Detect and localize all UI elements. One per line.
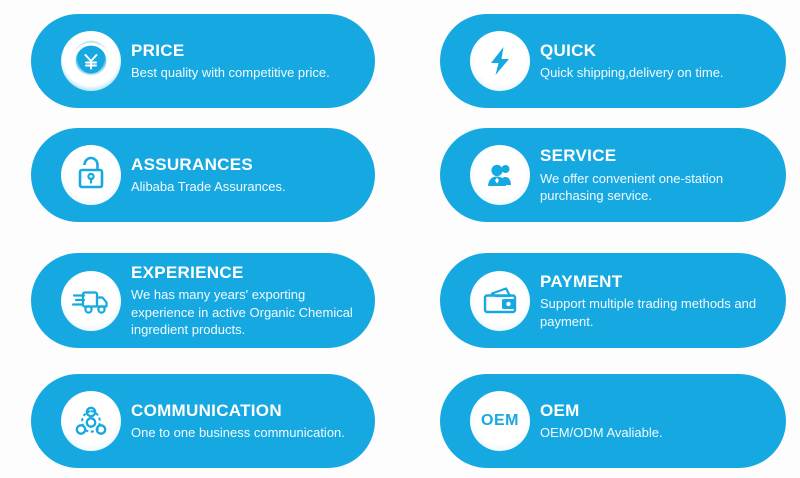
feature-card-quick[interactable]: QUICK Quick shipping,delivery on time.	[440, 14, 786, 108]
feature-card-service[interactable]: SERVICE We offer convenient one-station …	[440, 128, 786, 222]
card-text-quick: QUICK Quick shipping,delivery on time.	[540, 40, 786, 82]
card-text-payment: PAYMENT Support multiple trading methods…	[540, 271, 786, 330]
card-description: We has many years' exporting experience …	[131, 286, 359, 339]
network-nodes-icon	[61, 391, 121, 451]
card-text-experience: EXPERIENCE We has many years' exporting …	[131, 262, 375, 339]
card-description: Quick shipping,delivery on time.	[540, 64, 770, 82]
feature-card-communication[interactable]: COMMUNICATION One to one business commun…	[31, 374, 375, 468]
card-text-assurances: ASSURANCES Alibaba Trade Assurances.	[131, 154, 375, 196]
card-description: Best quality with competitive price.	[131, 64, 359, 82]
card-description: One to one business communication.	[131, 424, 359, 442]
feature-card-experience[interactable]: EXPERIENCE We has many years' exporting …	[31, 253, 375, 348]
oem-text-icon: OEM	[470, 391, 530, 451]
feature-card-oem[interactable]: OEM OEM OEM/ODM Avaliable.	[440, 374, 786, 468]
wallet-card-icon	[470, 271, 530, 331]
card-description: We offer convenient one-station purchasi…	[540, 170, 770, 205]
card-title: ASSURANCES	[131, 154, 359, 175]
feature-card-assurances[interactable]: ASSURANCES Alibaba Trade Assurances.	[31, 128, 375, 222]
card-text-price: PRICE Best quality with competitive pric…	[131, 40, 375, 82]
features-board: PRICE Best quality with competitive pric…	[0, 0, 800, 478]
card-title: QUICK	[540, 40, 770, 61]
card-title: OEM	[540, 400, 770, 421]
card-title: EXPERIENCE	[131, 262, 359, 283]
customer-service-people-icon	[470, 145, 530, 205]
card-description: Alibaba Trade Assurances.	[131, 178, 359, 196]
lightning-bolt-icon	[470, 31, 530, 91]
padlock-icon	[61, 145, 121, 205]
feature-card-payment[interactable]: PAYMENT Support multiple trading methods…	[440, 253, 786, 348]
card-description: OEM/ODM Avaliable.	[540, 424, 770, 442]
card-title: PAYMENT	[540, 271, 770, 292]
card-text-service: SERVICE We offer convenient one-station …	[540, 145, 786, 204]
card-text-oem: OEM OEM/ODM Avaliable.	[540, 400, 786, 442]
card-title: COMMUNICATION	[131, 400, 359, 421]
card-text-communication: COMMUNICATION One to one business commun…	[131, 400, 375, 442]
card-title: PRICE	[131, 40, 359, 61]
delivery-truck-icon	[61, 271, 121, 331]
yen-coin-icon	[61, 31, 121, 91]
oem-icon-label: OEM	[481, 412, 519, 430]
card-description: Support multiple trading methods and pay…	[540, 295, 770, 330]
card-title: SERVICE	[540, 145, 770, 166]
feature-card-price[interactable]: PRICE Best quality with competitive pric…	[31, 14, 375, 108]
